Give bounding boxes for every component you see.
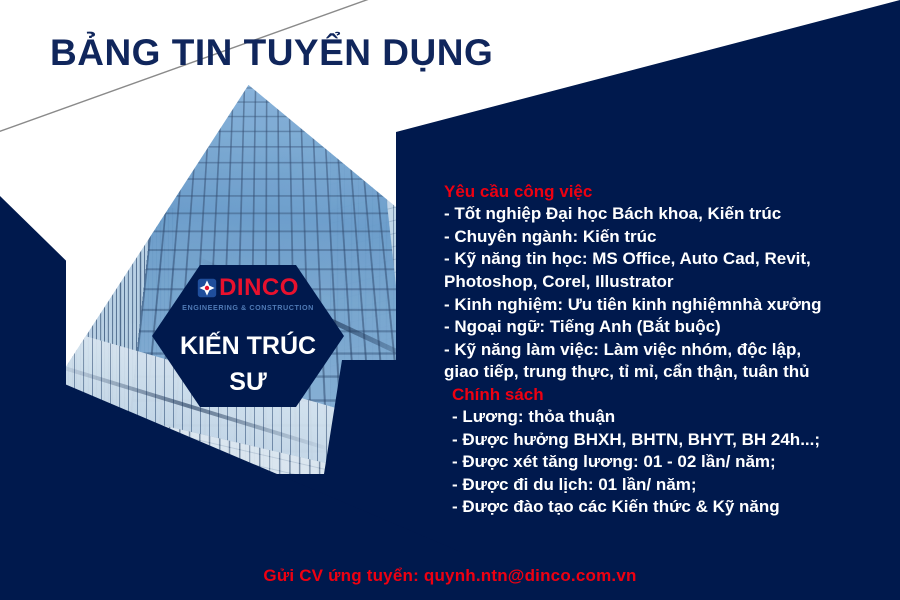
requirements-item: - Kỹ năng tin học: MS Office, Auto Cad, … (444, 248, 896, 271)
recruitment-poster: BẢNG TIN TUYỂN DỤNG DINCO ENGINEERING & … (0, 0, 900, 600)
requirements-item: - Kỹ năng làm việc: Làm việc nhóm, độc l… (444, 339, 896, 362)
requirements-item: - Chuyên ngành: Kiến trúc (444, 226, 896, 249)
contact-email-line[interactable]: Gửi CV ứng tuyển: quynh.ntn@dinco.com.vn (0, 566, 900, 586)
company-logo: DINCO (197, 276, 299, 300)
requirements-item: - Ngoại ngữ: Tiếng Anh (Bắt buộc) (444, 316, 896, 339)
policy-item: - Được đào tạo các Kiến thức & Kỹ năng (444, 496, 896, 519)
policy-item: - Lương: thỏa thuận (444, 406, 896, 429)
job-role-title: KIẾN TRÚC SƯ (180, 328, 316, 401)
policy-item: - Được đi du lịch: 01 lần/ năm; (444, 474, 896, 497)
job-role-line-2: SƯ (180, 364, 316, 400)
requirements-item: - Tốt nghiệp Đại học Bách khoa, Kiến trú… (444, 203, 896, 226)
dinco-compass-icon (197, 278, 217, 298)
policy-item: - Được xét tăng lương: 01 - 02 lần/ năm; (444, 451, 896, 474)
navy-panel-left-notch (0, 196, 66, 386)
logo-tagline: ENGINEERING & CONSTRUCTION (182, 303, 314, 312)
policy-heading: Chính sách (444, 384, 896, 406)
requirements-item: Photoshop, Corel, Illustrator (444, 271, 896, 294)
logo-wordmark: DINCO (219, 276, 299, 300)
requirements-heading: Yêu cầu công việc (444, 181, 896, 203)
requirements-item: giao tiếp, trung thực, tỉ mỉ, cẩn thận, … (444, 361, 896, 384)
requirements-item: - Kinh nghiệm: Ưu tiên kinh nghiệmnhà xư… (444, 294, 896, 317)
policy-item: - Được hưởng BHXH, BHTN, BHYT, BH 24h...… (444, 429, 896, 452)
page-title: BẢNG TIN TUYỂN DỤNG (50, 32, 493, 74)
job-details: Yêu cầu công việc - Tốt nghiệp Đại học B… (444, 181, 896, 519)
job-role-line-1: KIẾN TRÚC (180, 328, 316, 364)
